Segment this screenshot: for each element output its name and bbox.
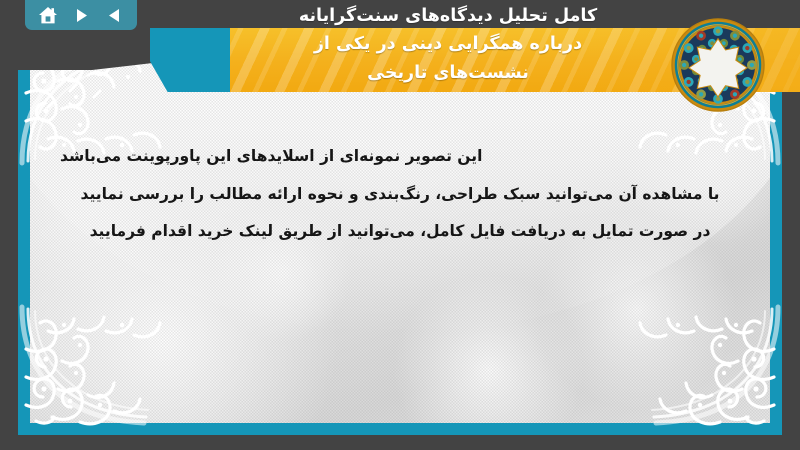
- body-line: با مشاهده آن می‌توانید سبک طراحی، رنگ‌بن…: [40, 176, 760, 214]
- persian-medallion-icon: [671, 18, 765, 112]
- title-line: کامل تحلیل دیدگاه‌های سنت‌گرایانه: [188, 2, 708, 30]
- home-icon: [38, 6, 58, 25]
- body-line: این تصویر نمونه‌ای از اسلایدهای این پاور…: [40, 138, 760, 176]
- arabesque-corner-icon: [18, 303, 168, 435]
- body-line: در صورت تمایل به دریافت فایل کامل، می‌تو…: [40, 213, 760, 251]
- slide-preview-stage: این تصویر نمونه‌ای از اسلایدهای این پاور…: [0, 0, 800, 450]
- home-button[interactable]: [38, 5, 58, 25]
- prev-button[interactable]: [104, 5, 124, 25]
- arabesque-corner-icon: [632, 303, 782, 435]
- triangle-right-icon: [73, 7, 90, 24]
- next-button[interactable]: [71, 5, 91, 25]
- navigation-bar: [25, 0, 137, 30]
- triangle-left-icon: [106, 7, 123, 24]
- slide-body-text: این تصویر نمونه‌ای از اسلایدهای این پاور…: [40, 138, 760, 251]
